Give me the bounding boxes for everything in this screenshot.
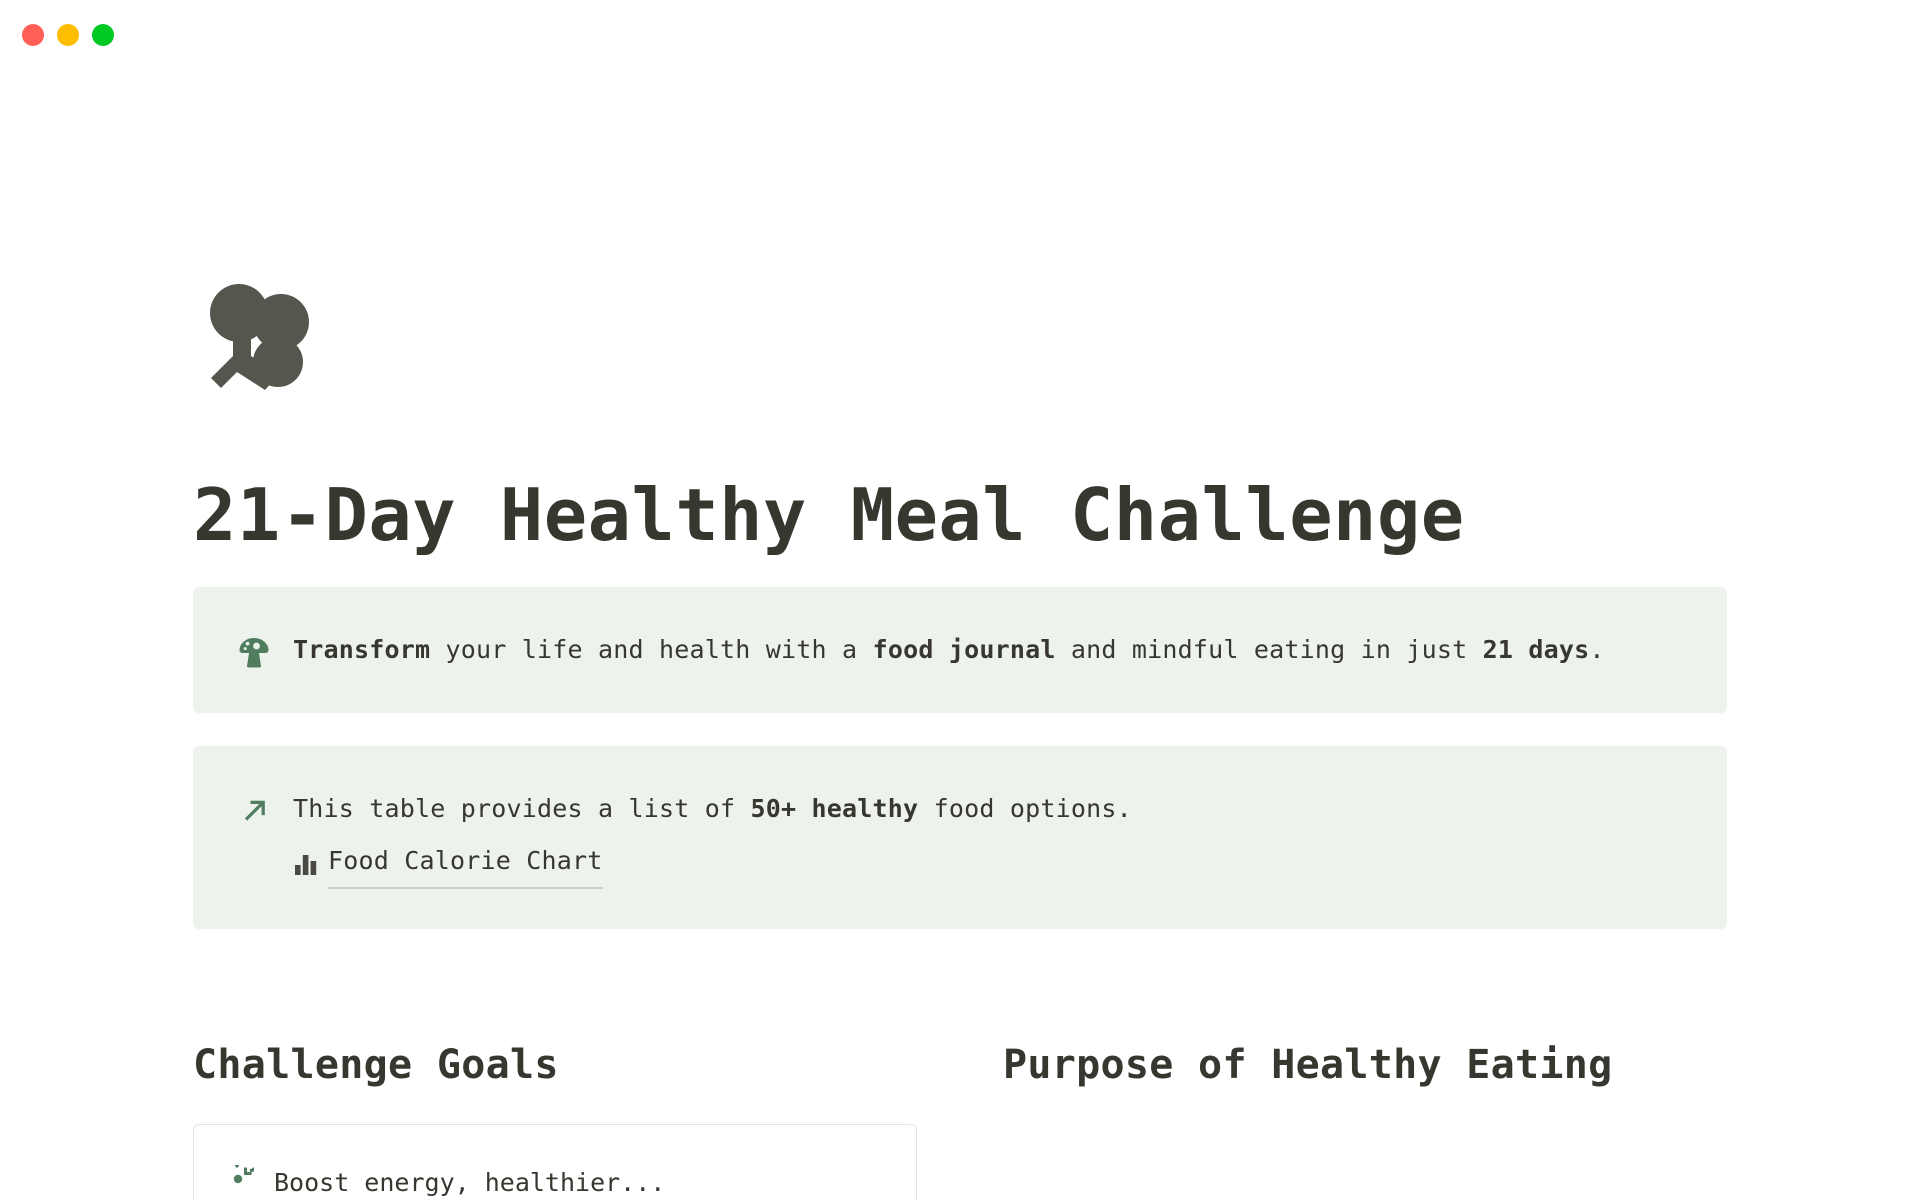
callout-transform: Transform your life and health with a fo… [193,587,1727,713]
callout-text-segment: your life and health with a [430,635,872,664]
callout-food-table: This table provides a list of 50+ health… [193,746,1727,930]
callout-text-segment: food journal [873,635,1056,664]
callout-text-segment: food options. [918,794,1132,823]
callout-text-segment: Transform [293,635,430,664]
challenge-goals-column: Challenge Goals Boost energy, healthier.… [193,1041,917,1200]
bar-chart-icon [293,851,319,877]
callout-food-table-text: This table provides a list of 50+ health… [293,786,1132,890]
window-controls [22,24,114,46]
mushroom-icon [237,635,271,669]
close-button[interactable] [22,24,44,46]
window-titlebar [0,0,1920,70]
dart-icon [224,1165,254,1195]
callout-text-segment: and mindful eating in just [1056,635,1483,664]
broccoli-icon[interactable] [193,270,323,400]
goal-card-text: Boost energy, healthier... [274,1163,665,1200]
arrow-up-right-icon [237,794,271,828]
callout-text-segment: This table provides a list of [293,794,751,823]
callout-text-segment: . [1589,635,1604,664]
food-calorie-chart-link-row[interactable]: Food Calorie Chart [293,838,1132,889]
food-calorie-chart-link[interactable]: Food Calorie Chart [328,838,603,889]
challenge-goals-heading: Challenge Goals [193,1041,917,1089]
purpose-heading: Purpose of Healthy Eating [1003,1041,1727,1089]
callout-text-segment: 50+ healthy [751,794,919,823]
purpose-column: Purpose of Healthy Eating [1003,1041,1727,1200]
document-page: 21-Day Healthy Meal Challenge Transform … [0,270,1920,1200]
two-column-section: Challenge Goals Boost energy, healthier.… [193,1041,1727,1200]
maximize-button[interactable] [92,24,114,46]
goal-card[interactable]: Boost energy, healthier... [193,1124,917,1200]
minimize-button[interactable] [57,24,79,46]
page-title: 21-Day Healthy Meal Challenge [193,478,1727,554]
callout-transform-text: Transform your life and health with a fo… [293,627,1605,673]
callout-text-segment: 21 days [1483,635,1590,664]
